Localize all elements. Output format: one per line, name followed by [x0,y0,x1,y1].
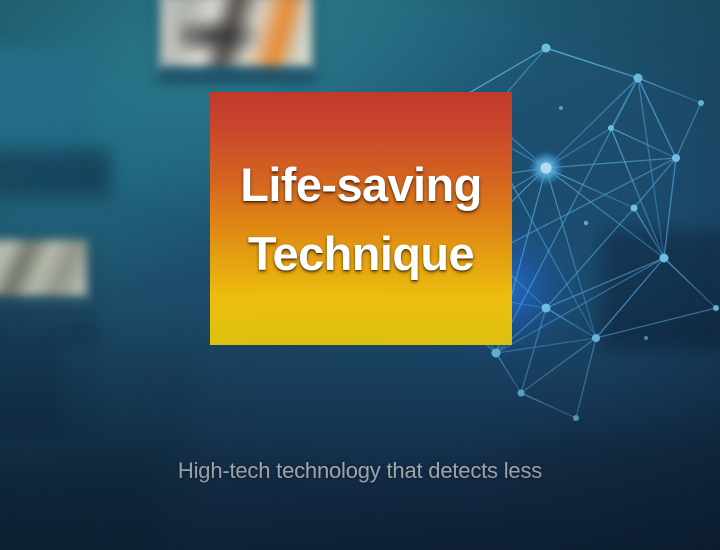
background-noise-texture [0,0,720,550]
slide-canvas: Life-saving Technique High-tech technolo… [0,0,720,550]
